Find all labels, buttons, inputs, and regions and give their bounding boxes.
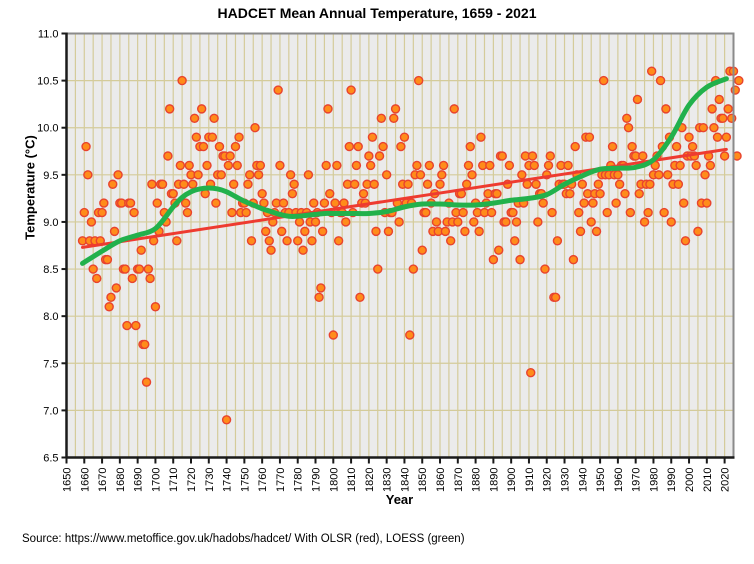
data-point	[566, 190, 574, 198]
data-point	[365, 152, 373, 160]
data-point	[299, 246, 307, 254]
data-point	[468, 171, 476, 179]
data-point	[441, 227, 449, 235]
data-point	[262, 227, 270, 235]
data-point	[498, 152, 506, 160]
data-point	[258, 190, 266, 198]
data-point	[680, 199, 688, 207]
data-point	[660, 209, 668, 217]
data-point	[308, 237, 316, 245]
x-tick-label: 1830	[382, 468, 394, 492]
data-point	[689, 143, 697, 151]
data-point	[228, 209, 236, 217]
y-axis-ticks: 6.57.07.58.08.59.09.510.010.511.0	[37, 29, 66, 465]
x-tick-label: 1890	[488, 468, 500, 492]
data-point	[529, 152, 537, 160]
data-point	[310, 199, 318, 207]
data-point	[614, 171, 622, 179]
data-point	[710, 124, 718, 132]
data-point	[360, 190, 368, 198]
data-point	[676, 161, 684, 169]
x-tick-label: 1770	[275, 468, 287, 492]
data-point	[304, 171, 312, 179]
source-note: Source: https://www.metoffice.gov.uk/had…	[22, 533, 465, 545]
data-point	[511, 237, 519, 245]
data-point	[93, 274, 101, 282]
data-point	[178, 77, 186, 85]
data-point	[625, 124, 633, 132]
data-point	[233, 161, 241, 169]
data-point	[416, 171, 424, 179]
data-point	[255, 171, 263, 179]
data-point	[594, 180, 602, 188]
data-point	[267, 246, 275, 254]
data-point	[103, 256, 111, 264]
data-point	[580, 199, 588, 207]
data-point	[166, 105, 174, 113]
x-tick-label: 1660	[79, 468, 91, 492]
data-point	[148, 180, 156, 188]
data-point	[283, 237, 291, 245]
x-tick-label: 2020	[720, 468, 732, 492]
data-point	[354, 143, 362, 151]
data-point	[425, 161, 433, 169]
data-point	[183, 209, 191, 217]
data-point	[587, 218, 595, 226]
data-point	[454, 218, 462, 226]
data-point	[552, 293, 560, 301]
data-point	[274, 86, 282, 94]
data-point	[100, 199, 108, 207]
data-point	[159, 180, 167, 188]
x-tick-label: 1670	[97, 468, 109, 492]
data-point	[199, 143, 207, 151]
chart-container: HADCET Mean Annual Temperature, 1659 - 2…	[0, 0, 754, 564]
data-point	[589, 199, 597, 207]
data-point	[230, 180, 238, 188]
data-point	[461, 227, 469, 235]
data-point	[137, 246, 145, 254]
data-point	[722, 133, 730, 141]
data-point	[105, 303, 113, 311]
data-point	[146, 274, 154, 282]
data-point	[493, 190, 501, 198]
plot-area: 6.57.07.58.08.59.09.510.010.511.01650166…	[0, 0, 754, 564]
data-point	[329, 331, 337, 339]
data-point	[198, 105, 206, 113]
data-point	[516, 256, 524, 264]
data-point	[315, 293, 323, 301]
data-point	[409, 265, 417, 273]
data-point	[169, 190, 177, 198]
data-point	[379, 143, 387, 151]
x-tick-label: 1900	[506, 467, 518, 491]
data-point	[324, 105, 332, 113]
data-point	[287, 171, 295, 179]
data-point	[571, 143, 579, 151]
data-point	[290, 180, 298, 188]
data-point	[189, 180, 197, 188]
data-point	[488, 209, 496, 217]
data-point	[681, 237, 689, 245]
data-point	[242, 209, 250, 217]
data-point	[128, 274, 136, 282]
data-point	[577, 227, 585, 235]
data-point	[345, 143, 353, 151]
data-point	[203, 161, 211, 169]
data-point	[395, 218, 403, 226]
data-point	[564, 161, 572, 169]
data-point	[600, 77, 608, 85]
data-point	[548, 209, 556, 217]
data-point	[575, 209, 583, 217]
data-point	[603, 209, 611, 217]
data-point	[185, 161, 193, 169]
data-point	[623, 114, 631, 122]
data-point	[509, 209, 517, 217]
data-point	[475, 227, 483, 235]
data-point	[422, 209, 430, 217]
y-tick-label: 7.0	[43, 405, 58, 417]
data-point	[635, 190, 643, 198]
data-point	[288, 190, 296, 198]
x-tick-label: 1910	[524, 468, 536, 492]
data-point	[312, 218, 320, 226]
data-point	[246, 171, 254, 179]
data-point	[376, 152, 384, 160]
data-point	[639, 152, 647, 160]
data-point	[569, 256, 577, 264]
data-point	[114, 171, 122, 179]
x-tick-label: 1870	[453, 468, 465, 492]
y-tick-label: 8.5	[43, 264, 58, 276]
data-point	[319, 227, 327, 235]
data-point	[151, 303, 159, 311]
data-point	[648, 67, 656, 75]
y-tick-label: 8.0	[43, 311, 58, 323]
data-point	[235, 133, 243, 141]
data-point	[356, 293, 364, 301]
data-point	[438, 171, 446, 179]
data-point	[98, 209, 106, 217]
data-point	[534, 218, 542, 226]
data-point	[706, 161, 714, 169]
x-tick-label: 1760	[257, 468, 269, 492]
data-point	[294, 237, 302, 245]
data-point	[127, 199, 135, 207]
data-point	[210, 114, 218, 122]
data-point	[276, 161, 284, 169]
data-point	[735, 77, 743, 85]
data-point	[144, 265, 152, 273]
data-point	[217, 171, 225, 179]
x-tick-label: 1990	[666, 468, 678, 492]
data-point	[646, 180, 654, 188]
data-point	[545, 161, 553, 169]
data-point	[673, 143, 681, 151]
x-tick-label: 1920	[542, 468, 554, 492]
x-tick-label: 1690	[133, 468, 145, 492]
x-axis-label: Year	[66, 492, 733, 507]
x-tick-label: 1940	[577, 468, 589, 492]
x-tick-label: 2000	[684, 468, 696, 492]
x-tick-label: 1820	[364, 468, 376, 492]
data-point	[351, 180, 359, 188]
data-point	[80, 209, 88, 217]
data-point	[352, 161, 360, 169]
data-point	[477, 133, 485, 141]
x-tick-label: 1950	[595, 468, 607, 492]
data-point	[502, 218, 510, 226]
data-point	[466, 143, 474, 151]
y-tick-label: 10.5	[37, 76, 58, 88]
data-point	[279, 199, 287, 207]
data-point	[347, 86, 355, 94]
data-point	[390, 114, 398, 122]
data-point	[374, 265, 382, 273]
data-point	[406, 331, 414, 339]
data-point	[513, 218, 521, 226]
data-point	[692, 161, 700, 169]
data-point	[335, 237, 343, 245]
data-point	[84, 171, 92, 179]
y-tick-label: 9.5	[43, 170, 58, 182]
data-point	[322, 161, 330, 169]
x-tick-label: 1730	[204, 468, 216, 492]
x-tick-label: 1710	[168, 468, 180, 492]
data-point	[194, 171, 202, 179]
x-tick-label: 1740	[222, 468, 234, 492]
data-point	[180, 180, 188, 188]
x-tick-label: 1650	[62, 468, 74, 492]
data-point	[326, 190, 334, 198]
data-point	[633, 95, 641, 103]
data-point	[400, 133, 408, 141]
data-point	[87, 218, 95, 226]
data-point	[721, 152, 729, 160]
data-point	[628, 143, 636, 151]
data-point	[657, 77, 665, 85]
data-point	[320, 199, 328, 207]
data-point	[532, 180, 540, 188]
data-point	[111, 227, 119, 235]
data-point	[191, 114, 199, 122]
data-point	[317, 284, 325, 292]
data-point	[609, 143, 617, 151]
data-point	[296, 218, 304, 226]
x-tick-label: 1880	[471, 468, 483, 492]
data-point	[368, 133, 376, 141]
x-tick-label: 1960	[613, 468, 625, 492]
data-point	[546, 152, 554, 160]
data-point	[470, 218, 478, 226]
data-point	[616, 180, 624, 188]
data-point	[130, 209, 138, 217]
data-point	[440, 161, 448, 169]
data-point	[621, 190, 629, 198]
data-point	[372, 227, 380, 235]
x-tick-label: 1980	[648, 468, 660, 492]
data-point	[370, 180, 378, 188]
data-point	[413, 161, 421, 169]
x-tick-label: 1780	[293, 468, 305, 492]
data-point	[247, 237, 255, 245]
x-tick-label: 1700	[150, 468, 162, 492]
data-point	[404, 180, 412, 188]
data-point	[121, 265, 129, 273]
data-point	[251, 124, 259, 132]
data-point	[367, 161, 375, 169]
data-point	[593, 227, 601, 235]
data-point	[728, 114, 736, 122]
data-point	[342, 218, 350, 226]
data-point	[612, 199, 620, 207]
data-point	[123, 322, 131, 330]
data-point	[89, 265, 97, 273]
data-point	[674, 180, 682, 188]
y-tick-label: 6.5	[43, 453, 58, 465]
data-point	[135, 265, 143, 273]
data-point	[655, 171, 663, 179]
data-point	[215, 143, 223, 151]
data-point	[173, 237, 181, 245]
data-point	[256, 161, 264, 169]
x-tick-label: 1800	[328, 468, 340, 492]
data-point	[82, 143, 90, 151]
data-point	[578, 180, 586, 188]
data-point	[724, 105, 732, 113]
data-point	[392, 105, 400, 113]
data-point	[664, 171, 672, 179]
data-point	[585, 133, 593, 141]
data-point	[107, 293, 115, 301]
data-point	[384, 227, 392, 235]
data-point	[231, 143, 239, 151]
data-point	[719, 114, 727, 122]
x-tick-label: 1790	[311, 468, 323, 492]
data-point	[424, 180, 432, 188]
x-tick-label: 1860	[435, 468, 447, 492]
data-point	[432, 218, 440, 226]
y-tick-label: 9.0	[43, 217, 58, 229]
y-tick-label: 11.0	[38, 29, 59, 41]
data-point	[701, 171, 709, 179]
data-point	[495, 246, 503, 254]
data-point	[212, 199, 220, 207]
data-point	[301, 227, 309, 235]
data-point	[553, 237, 561, 245]
data-point	[641, 218, 649, 226]
data-point	[153, 199, 161, 207]
data-point	[694, 227, 702, 235]
data-point	[383, 171, 391, 179]
data-point	[539, 199, 547, 207]
data-point	[703, 199, 711, 207]
x-tick-label: 1810	[346, 468, 358, 492]
data-point	[436, 180, 444, 188]
data-point	[418, 246, 426, 254]
data-point	[527, 369, 535, 377]
data-point	[489, 256, 497, 264]
data-point	[244, 180, 252, 188]
data-point	[415, 77, 423, 85]
data-point	[112, 284, 120, 292]
data-point	[141, 340, 149, 348]
y-tick-label: 10.0	[37, 123, 58, 135]
data-point	[208, 133, 216, 141]
data-point	[713, 133, 721, 141]
x-tick-label: 1970	[631, 468, 643, 492]
data-point	[164, 152, 172, 160]
data-point	[518, 171, 526, 179]
data-point	[192, 133, 200, 141]
data-point	[596, 190, 604, 198]
x-tick-label: 1720	[186, 468, 198, 492]
data-point	[699, 124, 707, 132]
data-point	[278, 227, 286, 235]
data-point	[530, 161, 538, 169]
data-point	[644, 209, 652, 217]
data-point	[226, 152, 234, 160]
data-point	[450, 105, 458, 113]
x-tick-label: 1930	[560, 468, 572, 492]
data-point	[715, 95, 723, 103]
data-point	[224, 161, 232, 169]
data-point	[731, 86, 739, 94]
x-tick-label: 1840	[399, 468, 411, 492]
x-tick-label: 2010	[702, 468, 714, 492]
data-point	[505, 161, 513, 169]
data-point	[447, 237, 455, 245]
data-point	[459, 209, 467, 217]
data-point	[626, 209, 634, 217]
data-point	[397, 143, 405, 151]
data-point	[143, 378, 151, 386]
x-tick-label: 1850	[417, 468, 429, 492]
x-tick-label: 1680	[115, 468, 127, 492]
data-point	[331, 199, 339, 207]
x-axis-ticks: 1650166016701680169017001710172017301740…	[62, 458, 732, 492]
data-point	[377, 114, 385, 122]
data-point	[486, 161, 494, 169]
y-tick-label: 7.5	[43, 358, 58, 370]
data-point	[109, 180, 117, 188]
data-point	[223, 416, 231, 424]
data-point	[685, 133, 693, 141]
data-point	[182, 199, 190, 207]
data-point	[708, 105, 716, 113]
data-point	[464, 161, 472, 169]
data-point	[662, 105, 670, 113]
data-point	[667, 218, 675, 226]
data-point	[333, 161, 341, 169]
data-point	[265, 237, 273, 245]
data-point	[132, 322, 140, 330]
data-point	[176, 161, 184, 169]
data-point	[541, 265, 549, 273]
x-tick-label: 1750	[239, 468, 251, 492]
